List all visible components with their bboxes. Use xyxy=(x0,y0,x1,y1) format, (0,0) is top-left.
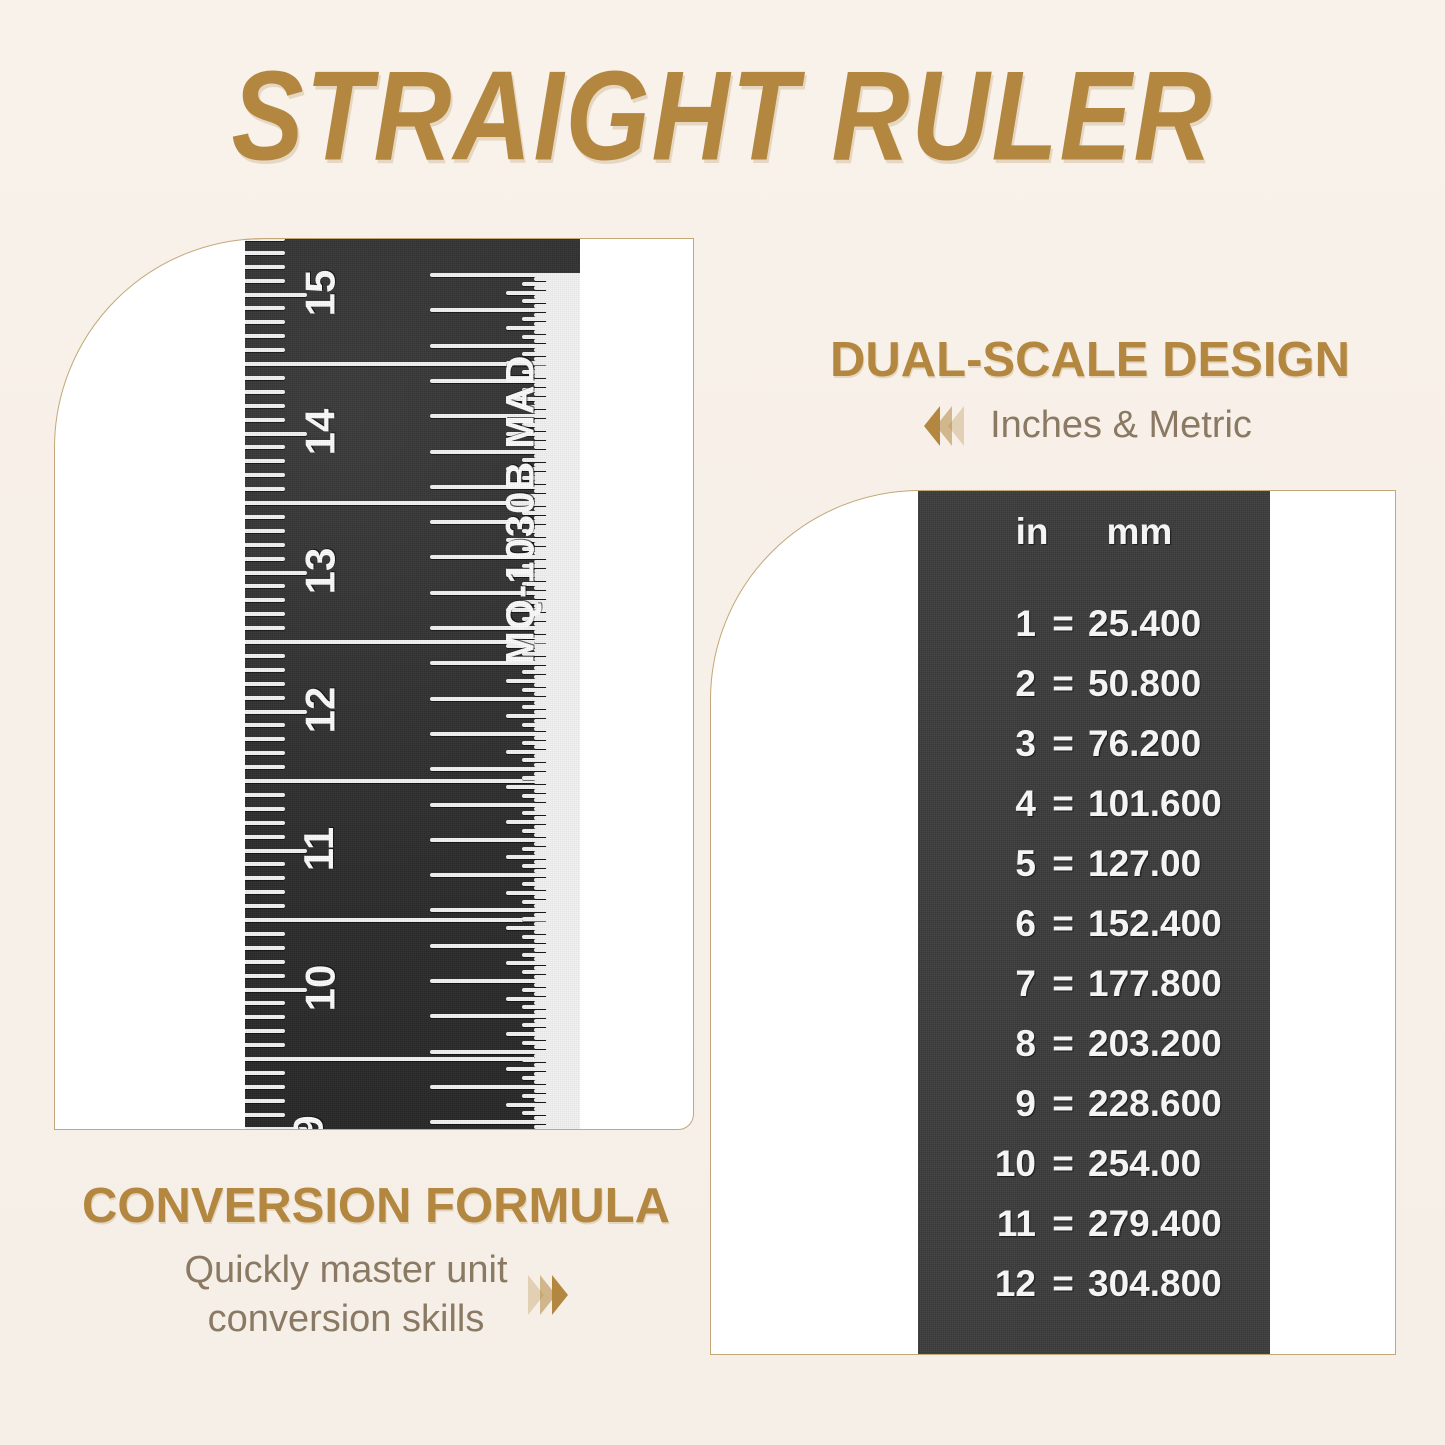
equals-sign: = xyxy=(1046,605,1080,642)
ruler-metric-label: 12 xyxy=(296,687,344,734)
ruler-tick xyxy=(245,960,285,964)
ruler-tick xyxy=(245,390,285,394)
equals-sign: = xyxy=(1046,785,1080,822)
dual-scale-feature-block: DUAL-SCALE DESIGN Inches & Metric xyxy=(790,332,1390,447)
dual-scale-heading: DUAL-SCALE DESIGN xyxy=(790,332,1390,388)
ruler-tick xyxy=(245,584,285,588)
conversion-millimeters: 127.00 xyxy=(1080,845,1256,882)
ruler-tick xyxy=(245,932,285,936)
conversion-inches: 5 xyxy=(932,845,1046,882)
conversion-table-header: in mm xyxy=(918,511,1270,553)
conversion-row: 2=50.800 xyxy=(918,665,1270,702)
ruler-tick xyxy=(522,1129,580,1130)
ruler-tick xyxy=(245,515,285,519)
conversion-row: 8=203.200 xyxy=(918,1025,1270,1062)
ruler-tick xyxy=(245,418,285,422)
ruler-metric-label: 9 xyxy=(285,1116,333,1130)
ruler-metric-label: 11 xyxy=(295,827,343,871)
conversion-formula-subheading: Quickly master unit conversion skills xyxy=(184,1246,507,1343)
chevron-left-group-icon xyxy=(928,406,964,446)
column-header-in: in xyxy=(1016,511,1049,553)
equals-sign: = xyxy=(1046,1265,1080,1302)
column-header-mm: mm xyxy=(1107,511,1173,553)
dual-scale-subheading: Inches & Metric xyxy=(990,404,1252,447)
ruler-tick xyxy=(245,904,285,908)
ruler-tick xyxy=(245,238,285,241)
ruler-tick xyxy=(245,1043,285,1047)
ruler-tick xyxy=(245,1015,285,1019)
ruler-tick xyxy=(245,612,285,616)
conversion-inches: 12 xyxy=(932,1265,1046,1302)
conversion-row: 5=127.00 xyxy=(918,845,1270,882)
conversion-plate-body: in mm 1=25.4002=50.8003=76.2004=101.6005… xyxy=(918,490,1270,1355)
ruler-model-number: MQ-1030B MAD xyxy=(498,355,543,665)
equals-sign: = xyxy=(1046,1205,1080,1242)
ruler-metric-label: 14 xyxy=(296,409,344,456)
dual-scale-subheading-row: Inches & Metric xyxy=(790,404,1390,447)
conversion-plate-card: in mm 1=25.4002=50.8003=76.2004=101.6005… xyxy=(710,490,1396,1355)
conversion-subheading-line1: Quickly master unit xyxy=(184,1249,507,1291)
conversion-millimeters: 101.600 xyxy=(1080,785,1256,822)
ruler-tick xyxy=(245,696,285,700)
conversion-millimeters: 279.400 xyxy=(1080,1205,1256,1242)
ruler-tick xyxy=(245,529,285,533)
ruler-tick xyxy=(245,821,285,825)
equals-sign: = xyxy=(1046,1025,1080,1062)
equals-sign: = xyxy=(1046,725,1080,762)
ruler-metric-label: 10 xyxy=(296,965,344,1012)
ruler-tick xyxy=(245,487,285,491)
conversion-millimeters: 304.800 xyxy=(1080,1265,1256,1302)
ruler-metric-label: 15 xyxy=(296,270,344,317)
ruler-tick xyxy=(245,765,285,769)
conversion-row: 7=177.800 xyxy=(918,965,1270,1002)
conversion-millimeters: 76.200 xyxy=(1080,725,1256,762)
ruler-tick xyxy=(245,751,285,755)
conversion-table: in mm 1=25.4002=50.8003=76.2004=101.6005… xyxy=(918,490,1270,1355)
chevron-right-group-icon xyxy=(532,1275,568,1315)
equals-sign: = xyxy=(1046,665,1080,702)
ruler-tick xyxy=(245,974,285,978)
ruler-tick xyxy=(245,807,285,811)
ruler-tick xyxy=(245,1085,285,1089)
ruler-tick xyxy=(245,404,285,408)
ruler-tick xyxy=(245,1029,285,1033)
conversion-table-separator xyxy=(918,1325,1270,1355)
conversion-inches: 4 xyxy=(932,785,1046,822)
ruler-tick xyxy=(245,279,285,283)
ruler-tick xyxy=(245,543,285,547)
conversion-row: 4=101.600 xyxy=(918,785,1270,822)
ruler-tick xyxy=(245,1099,285,1103)
conversion-millimeters: 228.600 xyxy=(1080,1085,1256,1122)
conversion-inches: 7 xyxy=(932,965,1046,1002)
ruler-tick xyxy=(245,793,285,797)
equals-sign: = xyxy=(1046,965,1080,1002)
conversion-inches: 3 xyxy=(932,725,1046,762)
ruler-tick xyxy=(245,598,285,602)
chevron-right-icon xyxy=(540,1275,556,1315)
ruler-tick xyxy=(245,265,285,269)
ruler-tick xyxy=(245,723,285,727)
conversion-inches: 8 xyxy=(932,1025,1046,1062)
conversion-millimeters: 50.800 xyxy=(1080,665,1256,702)
conversion-formula-feature-block: CONVERSION FORMULA Quickly master unit c… xyxy=(36,1178,716,1343)
equals-sign: = xyxy=(1046,1085,1080,1122)
chevron-left-icon xyxy=(948,406,964,446)
ruler-tick xyxy=(245,251,285,255)
ruler-tick xyxy=(245,626,285,630)
ruler-tick xyxy=(245,376,285,380)
ruler-tick xyxy=(245,473,285,477)
equals-sign: = xyxy=(1046,845,1080,882)
conversion-row: 10=254.00 xyxy=(918,1145,1270,1182)
ruler-tick xyxy=(245,1001,285,1005)
ruler-tick xyxy=(245,1113,285,1117)
ruler-tick xyxy=(245,668,285,672)
conversion-row: 11=279.400 xyxy=(918,1205,1270,1242)
conversion-formula-subheading-row: Quickly master unit conversion skills xyxy=(36,1246,716,1343)
conversion-inches: 9 xyxy=(932,1085,1046,1122)
ruler-photo-card: 1514131211109 678 MQ-1030B MAD xyxy=(54,238,694,1130)
conversion-inches: 6 xyxy=(932,905,1046,942)
equals-sign: = xyxy=(1046,1145,1080,1182)
ruler-tick xyxy=(245,835,285,839)
conversion-millimeters: 25.400 xyxy=(1080,605,1256,642)
ruler-tick xyxy=(245,1071,285,1075)
ruler-tick xyxy=(245,682,285,686)
ruler-tick xyxy=(245,946,285,950)
conversion-row: 12=304.800 xyxy=(918,1265,1270,1302)
ruler-tick xyxy=(245,320,285,324)
ruler-tick xyxy=(245,459,285,463)
ruler-tick xyxy=(245,876,285,880)
ruler-tick xyxy=(245,890,285,894)
conversion-inches: 1 xyxy=(932,605,1046,642)
conversion-table-rows: 1=25.4002=50.8003=76.2004=101.6005=127.0… xyxy=(918,605,1270,1355)
ruler-body-left: 1514131211109 678 MQ-1030B MAD xyxy=(245,238,580,1130)
ruler-tick xyxy=(245,334,285,338)
equals-sign: = xyxy=(1046,905,1080,942)
conversion-row: 3=76.200 xyxy=(918,725,1270,762)
conversion-row: 9=228.600 xyxy=(918,1085,1270,1122)
conversion-millimeters: 203.200 xyxy=(1080,1025,1256,1062)
ruler-tick xyxy=(245,557,285,561)
ruler-tick xyxy=(245,654,285,658)
ruler-tick xyxy=(245,862,285,866)
conversion-formula-heading: CONVERSION FORMULA xyxy=(36,1178,716,1234)
ruler-tick xyxy=(245,348,285,352)
ruler-tick xyxy=(245,306,285,310)
ruler-tick xyxy=(245,445,285,449)
conversion-millimeters: 177.800 xyxy=(1080,965,1256,1002)
conversion-millimeters: 254.00 xyxy=(1080,1145,1256,1182)
conversion-subheading-line2: conversion skills xyxy=(208,1298,485,1340)
conversion-inches: 2 xyxy=(932,665,1046,702)
conversion-row: 1=25.400 xyxy=(918,605,1270,642)
conversion-inches: 11 xyxy=(932,1205,1046,1242)
conversion-inches: 10 xyxy=(932,1145,1046,1182)
ruler-tick xyxy=(245,737,285,741)
page-title: STRAIGHT RULER xyxy=(0,52,1445,179)
conversion-row: 6=152.400 xyxy=(918,905,1270,942)
conversion-millimeters: 152.400 xyxy=(1080,905,1256,942)
ruler-metric-label: 13 xyxy=(296,548,344,595)
